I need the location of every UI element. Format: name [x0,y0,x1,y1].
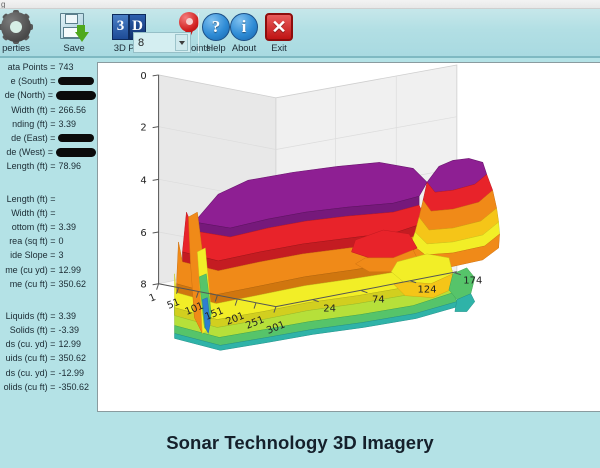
window-title-bar: g [0,0,600,9]
stat-label: Solids (ft) = [0,325,58,335]
stat-value: 0 [58,236,96,246]
redaction-bar [56,148,96,157]
properties-label: perties [2,43,30,54]
stats-group-basin: Length (ft) =Width (ft) =ottom (ft) =3.3… [0,192,96,291]
exit-button[interactable]: ✕ Exit [251,11,307,54]
redacted-value [58,76,96,86]
stat-value: 350.62 [58,353,96,363]
stat-row: uids (cu ft) =350.62 [0,351,96,365]
stats-spacer-2 [0,291,96,309]
3d-plot-panel[interactable]: 0 2 4 6 8 1 51 101 [97,62,600,412]
stat-label: rea (sq ft) = [0,236,58,246]
waypoint-count-combobox[interactable]: 8 [133,32,191,53]
stat-row: e (South) = [0,74,96,88]
stat-row: Solids (ft) =-3.39 [0,323,96,337]
stat-label: de (North) = [0,90,56,100]
statistics-sidebar: ata Points =743e (South) =de (North) =Wi… [0,60,96,412]
stat-label: me (cu ft) = [0,279,58,289]
z-tick-label: 6 [140,228,146,239]
stat-row: Width (ft) =266.56 [0,103,96,117]
stat-label: ds (cu. yd) = [0,339,58,349]
floppy-disk-icon [60,11,88,42]
stat-label: e (South) = [0,76,58,86]
z-axis: 0 2 4 6 8 [140,71,158,291]
combobox-value: 8 [134,37,175,49]
exit-label: Exit [271,43,286,54]
application-window: g perties [0,0,600,468]
y-tick-label: 174 [463,276,482,287]
stat-value: 12.99 [58,339,96,349]
stat-row: Length (ft) =78.96 [0,159,96,173]
footer-bar: Sonar Technology 3D Imagery [0,418,600,468]
stat-value: 266.56 [58,105,96,115]
save-label: Save [63,43,84,54]
redaction-bar [58,77,94,85]
stat-label: olids (cu ft) = [0,382,58,392]
stat-label: ds (cu. yd) = [0,368,58,378]
stat-label: de (West) = [0,147,56,157]
stat-value: -350.62 [58,382,96,392]
stats-group-survey: ata Points =743e (South) =de (North) =Wi… [0,60,96,174]
stat-label: me (cu yd) = [0,265,58,275]
stat-label: uids (cu ft) = [0,353,58,363]
stat-row: ds (cu. yd) =-12.99 [0,366,96,380]
stat-row: de (East) = [0,131,96,145]
save-button[interactable]: Save [46,11,102,54]
stat-row: de (North) = [0,88,96,102]
stat-row: ds (cu. yd) =12.99 [0,337,96,351]
stat-value: 743 [58,62,96,72]
redaction-bar [58,134,94,142]
stat-row: rea (sq ft) =0 [0,234,96,248]
redaction-bar [56,91,96,100]
stat-row: Liquids (ft) =3.39 [0,309,96,323]
stat-label: Width (ft) = [0,208,58,218]
stat-label: ide Slope = [0,250,58,260]
stat-label: Length (ft) = [0,161,58,171]
stat-value: 3.39 [58,311,96,321]
stats-group-volumes: Liquids (ft) =3.39Solids (ft) =-3.39ds (… [0,309,96,394]
stat-row: ottom (ft) =3.39 [0,220,96,234]
sonar-surface-chart: 0 2 4 6 8 1 51 101 [98,63,600,411]
stat-value: -3.39 [58,325,96,335]
z-tick-label: 4 [140,175,146,186]
x-tick-label: 1 [148,292,158,305]
main-toolbar: perties Save 3D 3D Plot [0,9,600,58]
stat-value: 3 [58,250,96,260]
window-title-text: g [0,0,600,9]
y-tick-label: 74 [372,295,385,306]
z-tick-label: 8 [140,280,146,291]
stat-row: Width (ft) = [0,206,96,220]
stat-row: de (West) = [0,145,96,159]
stat-label: ottom (ft) = [0,222,58,232]
stat-label: de (East) = [0,133,58,143]
z-tick-label: 2 [140,123,146,134]
redacted-value [58,133,96,143]
stat-label: Liquids (ft) = [0,311,58,321]
stat-row: ata Points =743 [0,60,96,74]
page-title: Sonar Technology 3D Imagery [166,432,434,454]
stat-row: nding (ft) =3.39 [0,117,96,131]
chevron-down-icon[interactable] [175,34,188,51]
stat-value: 3.39 [58,222,96,232]
stat-row: olids (cu ft) =-350.62 [0,380,96,394]
stat-label: nding (ft) = [0,119,58,129]
stat-value: 12.99 [58,265,96,275]
stat-row: me (cu yd) =12.99 [0,262,96,276]
close-x-icon: ✕ [265,11,293,42]
stats-spacer-1 [0,174,96,192]
stat-value: 78.96 [58,161,96,171]
stat-label: Width (ft) = [0,105,58,115]
y-tick-label: 124 [418,285,437,296]
z-tick-label: 0 [140,71,146,82]
y-tick-label: 24 [323,304,336,315]
stat-row: ide Slope =3 [0,248,96,262]
stat-row: Length (ft) = [0,192,96,206]
stat-label: Length (ft) = [0,194,58,204]
stat-label: ata Points = [0,62,58,72]
stat-value: 350.62 [58,279,96,289]
properties-button[interactable]: perties [0,11,44,54]
stat-row: me (cu ft) =350.62 [0,277,96,291]
stat-value: 3.39 [58,119,96,129]
gear-icon [1,11,31,42]
redacted-value [56,147,96,158]
redacted-value [56,90,96,101]
stat-value: -12.99 [58,368,96,378]
